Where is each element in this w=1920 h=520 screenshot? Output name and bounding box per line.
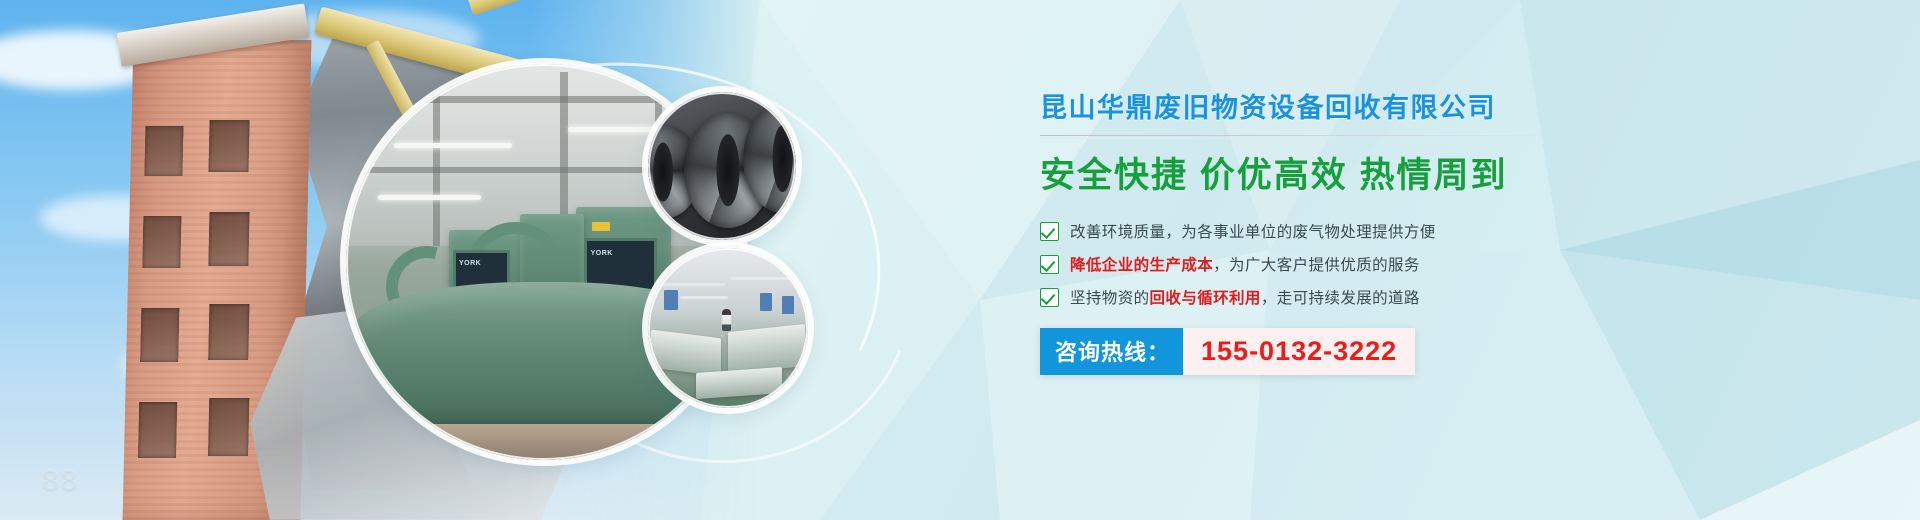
support-column [433, 72, 440, 246]
building-window [208, 120, 249, 172]
work-bench [728, 324, 805, 374]
check-box-icon [1040, 222, 1059, 241]
highlight-text: 降低企业的生产成本 [1070, 257, 1213, 274]
building-window [142, 216, 181, 268]
building-window [138, 402, 177, 458]
watermark-text: 88 [42, 464, 79, 498]
promo-banner: 88 YORK YORK [0, 0, 1920, 520]
bullet-text: 降低企业的生产成本，为广大客户提供优质的服务 [1070, 253, 1420, 275]
check-box-icon [1040, 288, 1059, 307]
work-bench [696, 367, 782, 399]
slogan-text: 安全快捷 价优高效 热情周到 [1040, 156, 1560, 196]
overhead-hose [658, 283, 725, 286]
workshop-floor [346, 424, 742, 460]
check-box-icon [1040, 255, 1059, 274]
hotline-phone-number[interactable]: 155-0132-3222 [1183, 328, 1415, 375]
steel-coils-photo [648, 92, 796, 240]
feature-bullet-list: 改善环境质量，为各事业单位的废气物处理提供方便 降低企业的生产成本，为广大客户提… [1040, 215, 1560, 314]
building-window [208, 212, 249, 266]
bullet-text: 坚持物资的回收与循环利用，走可持续发展的道路 [1070, 286, 1420, 308]
light-tube [378, 195, 481, 200]
worker-figure [722, 309, 731, 331]
divider-line [1040, 135, 1552, 136]
warning-label [592, 222, 610, 231]
overhead-hose [680, 296, 728, 299]
building-window [140, 308, 179, 362]
equipment-part [782, 296, 794, 314]
light-tube [394, 143, 513, 148]
photo-circle-workshop [648, 248, 808, 408]
highlight-text: 回收与循环利用 [1150, 290, 1261, 307]
photo-circle-steel-coils [648, 92, 796, 240]
overhead-hose [731, 277, 801, 280]
list-item: 坚持物资的回收与循环利用，走可持续发展的道路 [1040, 281, 1560, 314]
equipment-part [664, 290, 678, 310]
building-window [144, 126, 183, 176]
hotline-banner[interactable]: 咨询热线： 155-0132-3222 [1040, 328, 1415, 375]
equipment-part [760, 293, 772, 311]
hotline-label: 咨询热线： [1040, 328, 1183, 375]
work-bench [651, 330, 721, 377]
building-window [208, 398, 249, 456]
text-content-column: 昆山华鼎废旧物资设备回收有限公司 安全快捷 价优高效 热情周到 改善环境质量，为… [1040, 92, 1560, 375]
bullet-text: 改善环境质量，为各事业单位的废气物处理提供方便 [1070, 220, 1436, 242]
list-item: 改善环境质量，为各事业单位的废气物处理提供方便 [1040, 215, 1560, 248]
workshop-photo [648, 248, 808, 408]
company-name: 昆山华鼎废旧物资设备回收有限公司 [1040, 92, 1560, 124]
list-item: 降低企业的生产成本，为广大客户提供优质的服务 [1040, 248, 1560, 281]
building-window [208, 304, 249, 360]
divider-line-secondary [1040, 138, 1552, 139]
